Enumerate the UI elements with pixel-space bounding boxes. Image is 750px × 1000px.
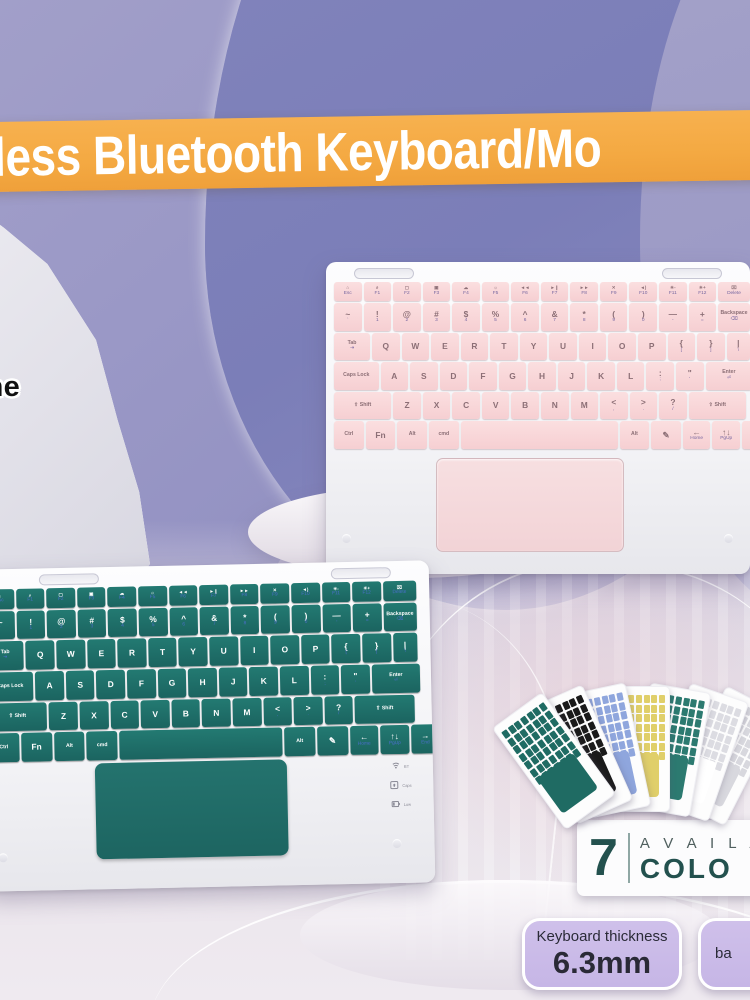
key-sublegend: ` — [0, 628, 1, 633]
card-mini-key — [683, 736, 690, 745]
key-[interactable]: ?/ — [659, 392, 687, 420]
key-sublegend: = — [701, 319, 704, 324]
teal-keyboard[interactable]: ⌂Esc⌕F1▢F2▣F3☁F4☼F5◄◄F6►❙F7►►F8✕F9◄)F10☀… — [0, 560, 435, 891]
key-x[interactable]: X — [79, 701, 108, 730]
key-legend: K — [261, 677, 267, 686]
key-alt[interactable]: Alt — [620, 421, 650, 449]
key-[interactable]: *8 — [230, 606, 259, 635]
key-legend: + — [700, 310, 705, 318]
card-mini-key — [681, 707, 688, 716]
key-b[interactable]: B — [511, 392, 539, 420]
key-n[interactable]: N — [202, 698, 231, 727]
badge-divider — [628, 833, 630, 883]
key-e[interactable]: E — [87, 639, 116, 668]
card-mini-key — [659, 724, 665, 732]
key-[interactable]: ◄)F10 — [629, 282, 657, 301]
key-g[interactable]: G — [499, 362, 527, 390]
key-backspace[interactable]: Backspace⌫ — [383, 602, 417, 631]
key-a[interactable]: A — [35, 671, 64, 700]
teal-keyboard-keys[interactable]: ⌂Esc⌕F1▢F2▣F3☁F4☼F5◄◄F6►❙F7►►F8✕F9◄)F10☀… — [0, 580, 435, 764]
key-legend: Alt — [296, 739, 303, 744]
key-backspace[interactable]: Backspace⌫ — [718, 303, 750, 331]
key-sublegend: ' — [355, 681, 356, 686]
key-legend: U — [221, 647, 227, 656]
key-legend: } — [375, 641, 378, 649]
key-legend: V — [152, 710, 158, 719]
key-sublegend: ⏎ — [394, 679, 398, 684]
card-mini-key — [687, 718, 694, 727]
key-ctrl[interactable]: Ctrl — [334, 421, 364, 449]
key-[interactable]: $4 — [452, 303, 480, 331]
key-r[interactable]: R — [461, 333, 489, 361]
card-mini-key — [727, 726, 735, 736]
key-legend: > — [306, 704, 311, 713]
color-fan[interactable] — [560, 686, 750, 826]
key-i[interactable]: I — [579, 333, 607, 361]
key-e[interactable]: E — [431, 333, 459, 361]
key-legend: J — [231, 677, 236, 686]
key-[interactable]: ~` — [0, 611, 15, 640]
key-[interactable]: ✕F9 — [600, 282, 628, 301]
bluetooth-indicator: BT — [391, 761, 409, 771]
key-ctrl[interactable]: Ctrl — [0, 733, 20, 762]
headline-banner: eless Bluetooth Keyboard/Mo — [0, 110, 750, 192]
key-sublegend: 1 — [29, 627, 32, 632]
key-[interactable]: ✎ — [651, 421, 681, 449]
key-x[interactable]: X — [423, 392, 451, 420]
key-r[interactable]: R — [117, 639, 146, 668]
key-sublegend: F9 — [272, 594, 278, 599]
key-legend: A — [46, 681, 52, 690]
key-k[interactable]: K — [587, 362, 615, 390]
teal-keyboard-hinge-left — [39, 573, 99, 585]
card-mini-key — [721, 744, 729, 754]
key-sublegend: F9 — [611, 292, 617, 297]
key-sublegend: Home — [358, 742, 371, 747]
key-[interactable]: $4 — [108, 608, 137, 637]
key-sublegend: [ — [681, 349, 682, 354]
key-[interactable]: ⌕F1 — [16, 588, 45, 608]
key-[interactable]: += — [689, 303, 717, 331]
key-sublegend: ] — [376, 650, 377, 655]
key-legend: ↑↓ — [390, 732, 399, 741]
key-legend: F — [480, 372, 485, 380]
key-shift[interactable]: ⇧ Shift — [355, 694, 415, 724]
pink-keyboard-foot-right — [724, 534, 733, 543]
key-d[interactable]: D — [440, 362, 468, 390]
key-[interactable]: ►►F8 — [570, 282, 598, 301]
key-enter[interactable]: Enter⏎ — [371, 664, 420, 694]
key-[interactable]: @2 — [393, 303, 421, 331]
key-alt[interactable]: Alt — [397, 421, 427, 449]
key-legend: T — [160, 648, 165, 657]
key-m[interactable]: M — [232, 697, 261, 726]
key-[interactable]: ▣F3 — [423, 282, 451, 301]
key-g[interactable]: G — [157, 668, 186, 697]
key-[interactable]: ⌂Esc — [334, 282, 362, 301]
card-mini-key — [594, 697, 602, 706]
thickness-caption: Keyboard thickness — [537, 928, 668, 946]
key-m[interactable]: M — [571, 392, 599, 420]
key-f[interactable]: F — [127, 669, 156, 698]
feature-line-3: dphone — [0, 368, 144, 406]
key-h[interactable]: H — [188, 668, 217, 697]
card-mini-key — [697, 700, 704, 709]
key-[interactable]: ▢F2 — [46, 588, 75, 608]
key-[interactable]: ☀+F12 — [689, 282, 717, 301]
key-b[interactable]: B — [171, 699, 200, 728]
key-[interactable]: )0 — [291, 604, 320, 633]
key-sublegend: 4 — [121, 625, 124, 630]
key-[interactable]: ☁F4 — [107, 586, 136, 606]
key-w[interactable]: W — [402, 333, 430, 361]
key-legend: # — [434, 310, 439, 318]
key-space[interactable] — [461, 421, 618, 449]
key-[interactable]: ↑↓PgUp — [712, 421, 740, 449]
key-[interactable]: :; — [310, 665, 339, 694]
key-legend: < — [275, 704, 280, 713]
key-legend: S — [421, 372, 427, 380]
key-[interactable]: ☀+F12 — [352, 581, 381, 601]
key-i[interactable]: I — [240, 636, 269, 665]
card-mini-key — [603, 705, 611, 714]
key-enter[interactable]: Enter⏎ — [706, 362, 750, 390]
key-legend: Q — [383, 342, 390, 350]
key-legend: ^ — [523, 310, 528, 318]
key-[interactable]: >. — [630, 392, 658, 420]
key-l[interactable]: L — [280, 666, 309, 695]
key-p[interactable]: P — [638, 333, 666, 361]
key-j[interactable]: J — [558, 362, 586, 390]
card-mini-key — [636, 705, 642, 713]
key-[interactable]: *8 — [570, 303, 598, 331]
key-[interactable]: ~` — [334, 303, 362, 331]
key-sublegend: 6 — [182, 624, 185, 629]
key-f[interactable]: F — [469, 362, 497, 390]
key-space[interactable] — [119, 728, 282, 760]
key-[interactable]: !1 — [364, 303, 392, 331]
key-fn[interactable]: Fn — [366, 421, 396, 449]
key-[interactable]: ←Home — [350, 726, 379, 755]
key-sublegend: 9 — [274, 622, 277, 627]
key-shift[interactable]: ⇧ Shift — [689, 392, 746, 420]
key-[interactable]: #3 — [77, 609, 106, 638]
key-[interactable]: )0 — [629, 303, 657, 331]
key-alt[interactable]: Alt — [54, 732, 85, 761]
key-legend: R — [471, 342, 477, 350]
key-[interactable]: ►❙F7 — [541, 282, 569, 301]
key-[interactable]: &7 — [200, 606, 229, 635]
key-[interactable]: }] — [362, 634, 391, 663]
key-o[interactable]: O — [608, 333, 636, 361]
key-[interactable]: :; — [646, 362, 674, 390]
key-sublegend: [ — [345, 651, 346, 656]
key-legend: ) — [642, 310, 645, 318]
key-[interactable]: ▢F2 — [393, 282, 421, 301]
key-[interactable]: ◄◄F6 — [169, 585, 198, 605]
pink-keyboard[interactable]: ⌂Esc⌕F1▢F2▣F3☁F4☼F5◄◄F6►❙F7►►F8✕F9◄)F10☀… — [326, 262, 750, 574]
key-[interactable]: →End — [411, 724, 436, 753]
key-legend: — — [669, 310, 677, 318]
key-[interactable]: ^6 — [169, 607, 198, 636]
key-n[interactable]: N — [541, 392, 569, 420]
key-y[interactable]: Y — [179, 637, 208, 666]
key-legend: C — [463, 401, 469, 409]
key-legend: ⇧ Shift — [709, 403, 726, 408]
key-legend: { — [344, 642, 347, 650]
card-mini-key — [617, 731, 625, 740]
key-[interactable]: &7 — [541, 303, 569, 331]
card-mini-key — [609, 733, 617, 742]
key-t[interactable]: T — [490, 333, 518, 361]
key-sublegend: , — [277, 714, 278, 719]
key-cmd[interactable]: cmd — [429, 421, 459, 449]
key-sublegend: F1 — [27, 599, 33, 604]
key-[interactable]: ◄)F10 — [291, 583, 320, 603]
key-[interactable]: += — [353, 603, 382, 632]
card-mini-key — [651, 724, 657, 732]
key-[interactable]: |\ — [727, 333, 750, 361]
key-shift[interactable]: ⇧ Shift — [0, 702, 47, 732]
key-legend: Y — [531, 342, 537, 350]
key-[interactable]: ✕F9 — [260, 583, 289, 603]
key-shift[interactable]: ⇧ Shift — [334, 392, 391, 420]
key-[interactable]: @2 — [47, 610, 76, 639]
key-sublegend: F3 — [89, 598, 95, 603]
key-[interactable]: !1 — [16, 610, 45, 639]
key-sublegend: F12 — [698, 292, 706, 297]
card-mini-key — [620, 711, 628, 720]
key-[interactable]: →End — [742, 421, 750, 449]
card-mini-key — [622, 720, 630, 729]
key-[interactable]: ►❙F7 — [199, 585, 228, 605]
key-legend: F — [139, 679, 144, 688]
key-l[interactable]: L — [617, 362, 645, 390]
key-legend: Z — [61, 712, 66, 721]
card-mini-key — [605, 714, 613, 723]
card-mini-key — [618, 740, 626, 749]
feature-line-1: op — [0, 292, 144, 330]
key-legend: ✎ — [329, 737, 336, 746]
key-v[interactable]: V — [482, 392, 510, 420]
key-[interactable]: #3 — [423, 303, 451, 331]
pink-keyboard-hinge-left — [354, 268, 414, 279]
key-a[interactable]: A — [381, 362, 409, 390]
card-mini-key — [624, 729, 632, 738]
key-[interactable]: ⌧Delete — [718, 282, 750, 301]
card-mini-key — [672, 715, 679, 724]
key-legend: P — [313, 645, 319, 654]
key-cmd[interactable]: cmd — [86, 731, 117, 760]
pink-keyboard-foot-left — [342, 534, 351, 543]
key-v[interactable]: V — [141, 699, 170, 728]
key-[interactable]: ←Home — [683, 421, 711, 449]
card-mini-key — [644, 714, 650, 722]
card-mini-key — [675, 696, 682, 705]
key-[interactable]: ?/ — [324, 696, 353, 725]
key-sublegend: ] — [710, 349, 711, 354]
key-[interactable]: ◄◄F6 — [511, 282, 539, 301]
key-sublegend: - — [672, 319, 674, 324]
key-c[interactable]: C — [110, 700, 139, 729]
teal-keyboard-foot-left — [0, 853, 8, 862]
key-[interactable]: <, — [600, 392, 628, 420]
card-mini-key — [696, 710, 703, 719]
card-mini-key — [644, 695, 650, 703]
key-[interactable]: |\ — [393, 633, 418, 662]
headline-text: eless Bluetooth Keyboard/Mo — [0, 120, 602, 184]
key-d[interactable]: D — [96, 670, 125, 699]
card-mini-key — [651, 714, 657, 722]
card-mini-key — [596, 706, 604, 715]
key-u[interactable]: U — [549, 333, 577, 361]
key-p[interactable]: P — [301, 635, 330, 664]
key-[interactable]: ☼F5 — [482, 282, 510, 301]
key-[interactable]: —- — [659, 303, 687, 331]
key-[interactable]: (9 — [600, 303, 628, 331]
key-sublegend: F8 — [581, 292, 587, 297]
key-legend: D — [450, 372, 456, 380]
key-sublegend: PgUp — [389, 742, 401, 747]
key-[interactable]: ⌕F1 — [364, 282, 392, 301]
key-[interactable]: ☁F4 — [452, 282, 480, 301]
key-t[interactable]: T — [148, 638, 177, 667]
card-mini-key — [626, 739, 634, 748]
key-legend: R — [129, 649, 135, 658]
key-sublegend: 0 — [305, 621, 308, 626]
key-o[interactable]: O — [270, 635, 299, 664]
key-legend: X — [91, 711, 97, 720]
key-s[interactable]: S — [410, 362, 438, 390]
key-s[interactable]: S — [66, 670, 95, 699]
key-sublegend: 2 — [60, 626, 63, 631]
key-sublegend: F2 — [404, 292, 410, 297]
key-[interactable]: ▣F3 — [77, 587, 106, 607]
key-[interactable]: "' — [676, 362, 704, 390]
card-mini-key — [607, 723, 615, 732]
key-[interactable]: (9 — [261, 605, 290, 634]
key-h[interactable]: H — [528, 362, 556, 390]
pink-keyboard-trackpad[interactable] — [436, 458, 624, 552]
key-sublegend: F7 — [211, 595, 217, 600]
key-[interactable]: ✎ — [317, 726, 348, 755]
key-row: ⌂Esc⌕F1▢F2▣F3☁F4☼F5◄◄F6►❙F7►►F8✕F9◄)F10☀… — [334, 282, 750, 301]
key-sublegend: 8 — [244, 623, 247, 628]
key-z[interactable]: Z — [49, 701, 78, 730]
key-sublegend: / — [672, 408, 673, 413]
key-[interactable]: }] — [697, 333, 725, 361]
key-legend: I — [591, 342, 593, 350]
key-sublegend: F4 — [463, 292, 469, 297]
key-sublegend: F10 — [301, 593, 309, 598]
key-[interactable]: "' — [341, 665, 370, 694]
key-sublegend: F2 — [58, 598, 64, 603]
key-k[interactable]: K — [249, 666, 278, 695]
teal-keyboard-hinge-right — [331, 567, 391, 579]
key-legend: Alt — [409, 432, 416, 437]
key-legend: B — [522, 401, 528, 409]
key-[interactable]: {[ — [331, 634, 360, 663]
key-caps-lock[interactable]: Caps Lock — [0, 672, 34, 702]
card-mini-key — [659, 695, 665, 703]
key-[interactable]: ☀-F11 — [659, 282, 687, 301]
card-mini-key — [651, 733, 657, 741]
key-w[interactable]: W — [56, 640, 85, 669]
key-q[interactable]: Q — [372, 333, 400, 361]
key-[interactable]: %5 — [482, 303, 510, 331]
key-alt[interactable]: Alt — [284, 727, 315, 756]
card-mini-key — [636, 714, 642, 722]
pink-keyboard-keys[interactable]: ⌂Esc⌕F1▢F2▣F3☁F4☼F5◄◄F6►❙F7►►F8✕F9◄)F10☀… — [334, 282, 750, 451]
key-sublegend: ⇥ — [3, 657, 7, 662]
key-legend: Z — [404, 401, 409, 409]
card-mini-key — [724, 735, 732, 745]
teal-keyboard-trackpad[interactable] — [95, 759, 289, 859]
key-u[interactable]: U — [209, 637, 238, 666]
card-mini-key — [676, 735, 683, 744]
key-[interactable]: ☀-F11 — [322, 582, 351, 602]
key-sublegend: 5 — [494, 319, 497, 324]
key-z[interactable]: Z — [393, 392, 421, 420]
card-mini-key — [685, 727, 692, 736]
key-sublegend: F7 — [552, 292, 558, 297]
key-sublegend: F12 — [363, 592, 371, 597]
keyboard-thickness-pill: Keyboard thickness 6.3mm — [522, 918, 682, 990]
key-j[interactable]: J — [219, 667, 248, 696]
status-indicators: BT Caps Low — [389, 761, 412, 809]
key-[interactable]: ☼F5 — [138, 586, 167, 606]
card-mini-key — [679, 716, 686, 725]
card-mini-key — [693, 728, 700, 737]
key-[interactable]: ►►F8 — [230, 584, 259, 604]
key-legend: + — [365, 611, 370, 620]
key-legend: : — [659, 369, 662, 377]
key-q[interactable]: Q — [26, 641, 55, 670]
key-[interactable]: ^6 — [511, 303, 539, 331]
key-sublegend: F11 — [332, 592, 340, 597]
card-mini-key — [677, 726, 684, 735]
card-mini-key — [689, 747, 696, 756]
key-sublegend: F8 — [241, 594, 247, 599]
key-sublegend: F4 — [119, 597, 125, 602]
key-legend: ~ — [345, 310, 350, 318]
key-[interactable]: ↑↓PgUp — [380, 725, 409, 754]
key-tab[interactable]: Tab⇥ — [0, 641, 24, 670]
key-[interactable]: ⌧Delete — [383, 581, 416, 601]
card-mini-key — [644, 705, 650, 713]
key-[interactable]: %5 — [138, 608, 167, 637]
key-[interactable]: ⌂Esc — [0, 589, 14, 609]
key-caps-lock[interactable]: Caps Lock — [334, 362, 379, 390]
key-legend: $ — [464, 310, 469, 318]
key-sublegend: 0 — [642, 319, 645, 324]
key-sublegend: 5 — [152, 624, 155, 629]
key-legend: G — [509, 372, 516, 380]
key-[interactable]: <, — [263, 697, 292, 726]
key-c[interactable]: C — [452, 392, 480, 420]
key-[interactable]: {[ — [668, 333, 696, 361]
key-legend: I — [253, 646, 256, 654]
key-tab[interactable]: Tab⇥ — [334, 333, 370, 361]
key-legend: P — [649, 342, 655, 350]
battery-indicator-label: Low — [404, 801, 411, 806]
key-legend: → — [421, 732, 430, 741]
key-[interactable]: >. — [294, 696, 323, 725]
key-y[interactable]: Y — [520, 333, 548, 361]
key-row: Tab⇥QWERTYUIOP{[}]|\ — [334, 333, 750, 361]
key-[interactable]: —- — [322, 604, 351, 633]
key-fn[interactable]: Fn — [21, 732, 52, 761]
